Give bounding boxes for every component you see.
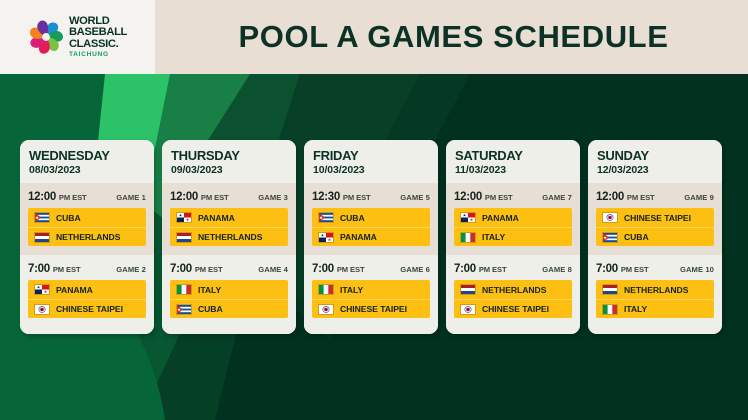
team-row[interactable]: CUBA: [312, 208, 430, 227]
game-number: GAME 1: [116, 193, 146, 202]
day-card-wednesday[interactable]: WEDNESDAY08/03/202312:00PM ESTGAME 1CUBA…: [20, 140, 154, 334]
team-name: PANAMA: [198, 213, 235, 223]
game-timezone: PM EST: [53, 265, 81, 274]
team-name: CUBA: [198, 304, 223, 314]
team-row[interactable]: CUBA: [596, 227, 714, 246]
game-timezone: PM EST: [485, 193, 513, 202]
team-row[interactable]: NETHERLANDS: [454, 280, 572, 299]
day-card-thursday[interactable]: THURSDAY09/03/202312:00PM ESTGAME 3PANAM…: [162, 140, 296, 334]
matchup[interactable]: CUBANETHERLANDS: [28, 208, 146, 246]
game-timezone: PM EST: [479, 265, 507, 274]
team-row[interactable]: ITALY: [312, 280, 430, 299]
game-block[interactable]: 12:00PM ESTGAME 3PANAMANETHERLANDS: [162, 183, 296, 255]
team-name: CHINESE TAIPEI: [624, 213, 691, 223]
game-meta: 7:00PM ESTGAME 8: [454, 263, 572, 275]
team-row[interactable]: ITALY: [454, 227, 572, 246]
flag-cuba: [176, 304, 192, 315]
matchup[interactable]: NETHERLANDSCHINESE TAIPEI: [454, 280, 572, 318]
team-name: CHINESE TAIPEI: [482, 304, 549, 314]
team-name: ITALY: [198, 285, 221, 295]
game-meta: 7:00PM ESTGAME 2: [28, 263, 146, 275]
flag-panama: [176, 212, 192, 223]
flag-netherlands: [34, 232, 50, 243]
flag-panama: [34, 284, 50, 295]
game-meta: 12:00PM ESTGAME 9: [596, 191, 714, 203]
game-timezone: PM EST: [201, 193, 229, 202]
page-title: POOL A GAMES SCHEDULE: [239, 19, 669, 55]
team-name: CUBA: [624, 232, 649, 242]
team-row[interactable]: ITALY: [596, 299, 714, 318]
day-date: 09/03/2023: [171, 164, 287, 176]
team-row[interactable]: PANAMA: [170, 208, 288, 227]
game-number: GAME 2: [116, 265, 146, 274]
game-time: 12:30: [312, 191, 340, 203]
flag-cuba: [602, 232, 618, 243]
flag-chinese-taipei: [602, 212, 618, 223]
team-name: PANAMA: [56, 285, 93, 295]
team-name: NETHERLANDS: [624, 285, 688, 295]
team-row[interactable]: CHINESE TAIPEI: [454, 299, 572, 318]
team-row[interactable]: CHINESE TAIPEI: [312, 299, 430, 318]
flag-netherlands: [602, 284, 618, 295]
team-row[interactable]: CUBA: [28, 208, 146, 227]
day-name: FRIDAY: [313, 149, 429, 163]
flag-italy: [176, 284, 192, 295]
header-bar: WORLD BASEBALL CLASSIC. TAICHUNG POOL A …: [0, 0, 748, 74]
team-row[interactable]: NETHERLANDS: [28, 227, 146, 246]
game-time: 12:00: [454, 191, 482, 203]
day-date: 10/03/2023: [313, 164, 429, 176]
game-meta: 7:00PM ESTGAME 10: [596, 263, 714, 275]
team-name: ITALY: [340, 285, 363, 295]
day-date: 11/03/2023: [455, 164, 571, 176]
day-name: THURSDAY: [171, 149, 287, 163]
logo-line-classic: CLASSIC.: [69, 39, 127, 51]
team-row[interactable]: NETHERLANDS: [596, 280, 714, 299]
game-timezone: PM EST: [343, 193, 371, 202]
team-name: CUBA: [340, 213, 365, 223]
matchup[interactable]: ITALYCUBA: [170, 280, 288, 318]
game-meta: 12:00PM ESTGAME 1: [28, 191, 146, 203]
matchup[interactable]: CHINESE TAIPEICUBA: [596, 208, 714, 246]
matchup[interactable]: PANAMACHINESE TAIPEI: [28, 280, 146, 318]
game-meta: 7:00PM ESTGAME 4: [170, 263, 288, 275]
team-name: NETHERLANDS: [56, 232, 120, 242]
day-card-header: SUNDAY12/03/2023: [588, 140, 722, 183]
logo-host-city: TAICHUNG: [69, 52, 127, 59]
wbc-pinwheel-logo-icon: [28, 19, 64, 55]
matchup[interactable]: ITALYCHINESE TAIPEI: [312, 280, 430, 318]
game-meta: 7:00PM ESTGAME 6: [312, 263, 430, 275]
game-block[interactable]: 7:00PM ESTGAME 10NETHERLANDSITALY: [588, 255, 722, 334]
game-number: GAME 6: [400, 265, 430, 274]
game-time: 7:00: [596, 263, 618, 275]
game-time: 7:00: [454, 263, 476, 275]
day-name: WEDNESDAY: [29, 149, 145, 163]
team-name: ITALY: [482, 232, 505, 242]
game-block[interactable]: 7:00PM ESTGAME 6ITALYCHINESE TAIPEI: [304, 255, 438, 334]
day-date: 08/03/2023: [29, 164, 145, 176]
team-row[interactable]: ITALY: [170, 280, 288, 299]
game-time: 7:00: [28, 263, 50, 275]
page-title-pane: POOL A GAMES SCHEDULE: [155, 0, 748, 74]
flag-panama: [460, 212, 476, 223]
team-row[interactable]: CUBA: [170, 299, 288, 318]
game-block[interactable]: 7:00PM ESTGAME 4ITALYCUBA: [162, 255, 296, 334]
team-name: CHINESE TAIPEI: [56, 304, 123, 314]
schedule-cards-row: WEDNESDAY08/03/202312:00PM ESTGAME 1CUBA…: [20, 140, 732, 334]
day-name: SUNDAY: [597, 149, 713, 163]
logo-line-baseball: BASEBALL: [69, 27, 127, 39]
matchup[interactable]: NETHERLANDSITALY: [596, 280, 714, 318]
game-block[interactable]: 12:00PM ESTGAME 7PANAMAITALY: [446, 183, 580, 255]
game-time: 12:00: [170, 191, 198, 203]
wbc-logo-pane: WORLD BASEBALL CLASSIC. TAICHUNG: [0, 0, 155, 74]
game-timezone: PM EST: [195, 265, 223, 274]
flag-chinese-taipei: [318, 304, 334, 315]
flag-chinese-taipei: [460, 304, 476, 315]
team-name: NETHERLANDS: [482, 285, 546, 295]
team-row[interactable]: PANAMA: [454, 208, 572, 227]
game-block[interactable]: 7:00PM ESTGAME 2PANAMACHINESE TAIPEI: [20, 255, 154, 334]
flag-panama: [318, 232, 334, 243]
game-number: GAME 5: [400, 193, 430, 202]
team-name: CHINESE TAIPEI: [340, 304, 407, 314]
team-row[interactable]: PANAMA: [312, 227, 430, 246]
team-name: NETHERLANDS: [198, 232, 262, 242]
game-time: 12:00: [596, 191, 624, 203]
day-card-header: THURSDAY09/03/2023: [162, 140, 296, 183]
flag-cuba: [34, 212, 50, 223]
game-time: 7:00: [170, 263, 192, 275]
team-name: PANAMA: [340, 232, 377, 242]
game-number: GAME 4: [258, 265, 288, 274]
matchup[interactable]: PANAMANETHERLANDS: [170, 208, 288, 246]
game-timezone: PM EST: [627, 193, 655, 202]
game-meta: 12:00PM ESTGAME 7: [454, 191, 572, 203]
day-card-friday[interactable]: FRIDAY10/03/202312:30PM ESTGAME 5CUBAPAN…: [304, 140, 438, 334]
game-timezone: PM EST: [59, 193, 87, 202]
flag-netherlands: [176, 232, 192, 243]
matchup[interactable]: CUBAPANAMA: [312, 208, 430, 246]
day-card-saturday[interactable]: SATURDAY11/03/202312:00PM ESTGAME 7PANAM…: [446, 140, 580, 334]
matchup[interactable]: PANAMAITALY: [454, 208, 572, 246]
team-name: CUBA: [56, 213, 81, 223]
day-card-header: SATURDAY11/03/2023: [446, 140, 580, 183]
day-date: 12/03/2023: [597, 164, 713, 176]
flag-chinese-taipei: [34, 304, 50, 315]
flag-netherlands: [460, 284, 476, 295]
team-name: ITALY: [624, 304, 647, 314]
day-name: SATURDAY: [455, 149, 571, 163]
team-row[interactable]: CHINESE TAIPEI: [28, 299, 146, 318]
flag-cuba: [318, 212, 334, 223]
game-timezone: PM EST: [621, 265, 649, 274]
game-number: GAME 9: [684, 193, 714, 202]
team-name: PANAMA: [482, 213, 519, 223]
game-timezone: PM EST: [337, 265, 365, 274]
game-block[interactable]: 12:00PM ESTGAME 1CUBANETHERLANDS: [20, 183, 154, 255]
game-time: 7:00: [312, 263, 334, 275]
game-time: 12:00: [28, 191, 56, 203]
game-number: GAME 8: [542, 265, 572, 274]
game-block[interactable]: 12:30PM ESTGAME 5CUBAPANAMA: [304, 183, 438, 255]
day-card-sunday[interactable]: SUNDAY12/03/202312:00PM ESTGAME 9CHINESE…: [588, 140, 722, 334]
game-number: GAME 7: [542, 193, 572, 202]
game-block[interactable]: 12:00PM ESTGAME 9CHINESE TAIPEICUBA: [588, 183, 722, 255]
wbc-logo-wordmark: WORLD BASEBALL CLASSIC. TAICHUNG: [69, 16, 127, 59]
game-block[interactable]: 7:00PM ESTGAME 8NETHERLANDSCHINESE TAIPE…: [446, 255, 580, 334]
flag-italy: [318, 284, 334, 295]
team-row[interactable]: NETHERLANDS: [170, 227, 288, 246]
day-card-header: WEDNESDAY08/03/2023: [20, 140, 154, 183]
game-number: GAME 3: [258, 193, 288, 202]
day-card-header: FRIDAY10/03/2023: [304, 140, 438, 183]
team-row[interactable]: CHINESE TAIPEI: [596, 208, 714, 227]
game-number: GAME 10: [680, 265, 714, 274]
flag-italy: [460, 232, 476, 243]
game-meta: 12:00PM ESTGAME 3: [170, 191, 288, 203]
team-row[interactable]: PANAMA: [28, 280, 146, 299]
flag-italy: [602, 304, 618, 315]
game-meta: 12:30PM ESTGAME 5: [312, 191, 430, 203]
